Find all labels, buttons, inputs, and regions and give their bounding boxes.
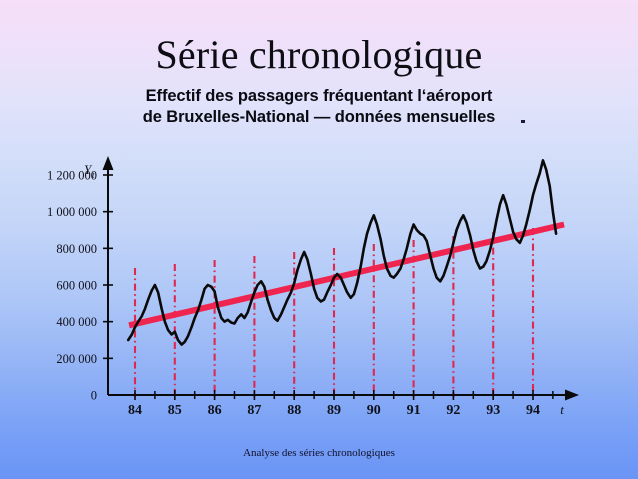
svg-text:0: 0 xyxy=(91,389,97,403)
time-series-chart: 0200 000400 000600 000800 0001 000 0001 … xyxy=(0,0,638,479)
trend-line xyxy=(129,225,564,326)
svg-text:800 000: 800 000 xyxy=(56,242,97,256)
svg-text:89: 89 xyxy=(327,403,341,418)
svg-text:91: 91 xyxy=(407,403,421,418)
svg-text:t: t xyxy=(560,402,564,417)
series-line-passengers xyxy=(128,160,556,344)
svg-text:90: 90 xyxy=(367,403,381,418)
x-axis-tick-labels: 8485868788899091929394 xyxy=(128,403,540,418)
svg-text:93: 93 xyxy=(486,403,500,418)
slide-canvas: Série chronologique Effectif des passage… xyxy=(0,0,638,479)
svg-text:88: 88 xyxy=(287,403,301,418)
svg-text:86: 86 xyxy=(208,403,222,418)
svg-text:92: 92 xyxy=(446,403,460,418)
svg-text:600 000: 600 000 xyxy=(56,279,97,293)
svg-text:87: 87 xyxy=(247,403,261,418)
svg-text:94: 94 xyxy=(526,403,540,418)
svg-text:200 000: 200 000 xyxy=(56,352,97,366)
svg-text:84: 84 xyxy=(128,403,142,418)
svg-text:85: 85 xyxy=(168,403,182,418)
chart-svg: 0200 000400 000600 000800 0001 000 0001 … xyxy=(0,0,638,479)
svg-text:1 000 000: 1 000 000 xyxy=(47,205,97,219)
y-axis-tick-labels: 0200 000400 000600 000800 0001 000 0001 … xyxy=(47,169,97,403)
slide-footer: Analyse des séries chronologiques xyxy=(0,447,638,459)
svg-text:400 000: 400 000 xyxy=(56,315,97,329)
